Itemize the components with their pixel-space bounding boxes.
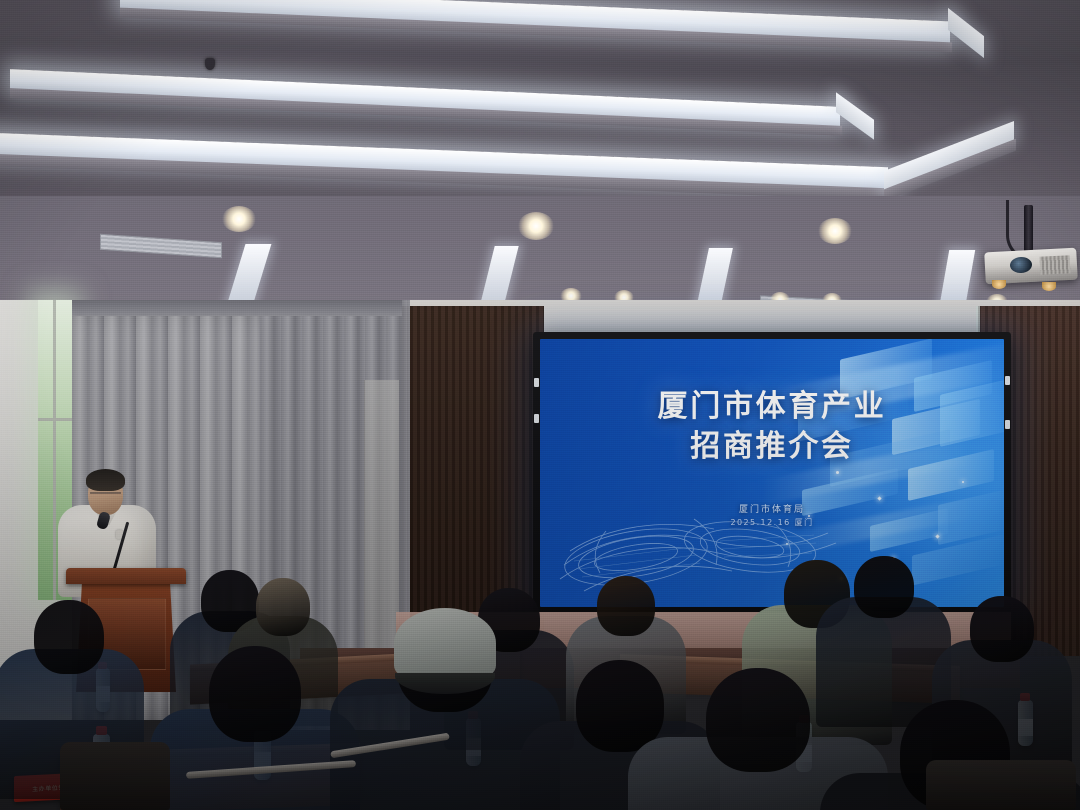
bezel-marker	[1005, 420, 1010, 429]
slide-title: 厦门市体育产业 招商推介会	[540, 387, 1004, 466]
ceiling	[0, 0, 1080, 315]
projector-foot	[992, 280, 1006, 289]
wood-wall-panel	[396, 306, 544, 636]
ceiling-light-strip-return	[948, 8, 984, 58]
podium-top	[66, 568, 186, 584]
glasses-icon	[90, 492, 121, 501]
sparkle	[836, 471, 839, 474]
ceiling-lower-band	[0, 196, 1080, 315]
slide-organizer: 厦门市体育局	[540, 502, 1004, 515]
baseball-cap	[394, 608, 496, 679]
smoke-detector-icon	[205, 58, 215, 70]
audience-head	[256, 578, 310, 636]
audience-head	[706, 668, 810, 772]
ceiling-downlight	[818, 218, 852, 244]
ceiling-downlight	[518, 212, 554, 240]
speaker-hair	[86, 469, 125, 491]
sparkle	[962, 481, 964, 483]
sparkle	[877, 496, 881, 500]
curtain-rail	[72, 300, 402, 316]
air-vent	[100, 234, 222, 259]
projector-vent	[1040, 255, 1071, 275]
conference-chair[interactable]	[60, 742, 170, 810]
projector-foot	[1042, 282, 1056, 291]
audience-head	[970, 596, 1034, 662]
audience-member-navy-left	[150, 646, 360, 810]
bezel-marker	[534, 378, 539, 387]
slide-date-location: 2025.12.16 厦门	[540, 517, 1004, 528]
audience-head	[854, 556, 914, 618]
window-mullion	[53, 300, 56, 600]
audience-head	[34, 600, 104, 674]
conference-chair[interactable]	[926, 760, 1076, 810]
audience-head	[597, 576, 655, 636]
conference-photo-scene: 厦门市体育产业 招商推介会 厦门市体育局 2025.12.16 厦门	[0, 0, 1080, 810]
bezel-marker	[1005, 376, 1010, 385]
slide-title-line2: 招商推介会	[540, 427, 1004, 467]
bezel-marker	[534, 414, 539, 423]
audience-head	[209, 646, 301, 742]
projector-mount-arm	[1024, 205, 1033, 253]
ceiling-downlight	[222, 206, 256, 232]
slide-title-line1: 厦门市体育产业	[658, 389, 887, 424]
